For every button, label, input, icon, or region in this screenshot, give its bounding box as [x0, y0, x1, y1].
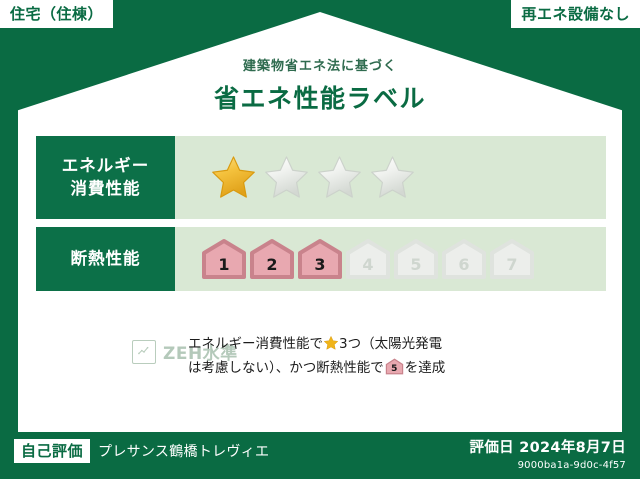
insulation-level-value: 2	[249, 257, 295, 273]
inline-star-icon	[323, 335, 339, 351]
inline-house-value: 5	[385, 365, 404, 374]
footer-right-group: 評価日 2024年8月7日 9000ba1a-9d0c-4f57	[470, 436, 626, 471]
insulation-level-7: 7	[489, 238, 535, 280]
self-evaluation-badge: 自己評価	[14, 439, 90, 463]
description-line-1: エネルギー消費性能で3つ（太陽光発電	[188, 333, 606, 357]
insulation-level-value: 6	[441, 257, 487, 273]
energy-performance-value	[175, 136, 606, 219]
insulation-level-2: 2	[249, 238, 295, 280]
insulation-level-1: 1	[201, 238, 247, 280]
achievement-description: エネルギー消費性能で3つ（太陽光発電 は考慮しない）、かつ断熱性能で5を達成	[166, 333, 606, 380]
description-line1-suffix: 3つ（太陽光発電	[339, 336, 442, 352]
evaluation-date: 評価日 2024年8月7日	[470, 436, 626, 457]
zeh-description-section: ZEH水準 エネルギー消費性能で3つ（太陽光発電 は考慮しない）、かつ断熱性能で…	[36, 333, 606, 380]
insulation-performance-row: 断熱性能 1234567	[36, 227, 606, 291]
energy-performance-row: エネルギー 消費性能	[36, 136, 606, 219]
star-empty-icon	[368, 154, 417, 201]
energy-label-line2: 消費性能	[71, 178, 141, 200]
label-title-block: 建築物省エネ法に基づく 省エネ性能ラベル	[0, 55, 640, 115]
insulation-level-4: 4	[345, 238, 391, 280]
inline-house-badge: 5	[385, 358, 404, 375]
footer-bar: 自己評価 プレサンス鶴橋トレヴィエ 評価日 2024年8月7日 9000ba1a…	[0, 432, 640, 479]
description-line2-suffix: を達成	[405, 360, 446, 376]
building-name: プレサンス鶴橋トレヴィエ	[98, 441, 269, 461]
insulation-performance-label: 断熱性能	[36, 227, 175, 291]
energy-label-line1: エネルギー	[62, 155, 150, 177]
star-rating	[209, 154, 417, 201]
zeh-standard-badge: ZEH水準	[36, 339, 166, 364]
star-empty-icon	[262, 154, 311, 201]
title-subtitle: 建築物省エネ法に基づく	[0, 55, 640, 74]
insulation-level-value: 4	[345, 257, 391, 273]
energy-label-page: { "tags": { "left": "住宅（住棟）", "right": "…	[0, 0, 640, 479]
insulation-level-value: 3	[297, 257, 343, 273]
insulation-level-3: 3	[297, 238, 343, 280]
insulation-level-5: 5	[393, 238, 439, 280]
building-type-tag: 住宅（住棟）	[0, 0, 113, 28]
insulation-level-scale: 1234567	[201, 238, 535, 280]
footer-left-group: 自己評価 プレサンス鶴橋トレヴィエ	[14, 439, 269, 463]
renewable-energy-tag: 再エネ設備なし	[511, 0, 640, 28]
insulation-performance-value: 1234567	[175, 227, 606, 291]
description-line-2: は考慮しない）、かつ断熱性能で5を達成	[188, 357, 606, 381]
insulation-level-value: 5	[393, 257, 439, 273]
insulation-label-line1: 断熱性能	[71, 248, 141, 270]
star-empty-icon	[315, 154, 364, 201]
description-line2-prefix: は考慮しない）、かつ断熱性能で	[188, 360, 384, 376]
zeh-check-icon	[132, 340, 156, 364]
insulation-level-value: 7	[489, 257, 535, 273]
page-title: 省エネ性能ラベル	[0, 79, 640, 115]
energy-performance-label: エネルギー 消費性能	[36, 136, 175, 219]
description-line1-prefix: エネルギー消費性能で	[188, 336, 323, 352]
star-filled-icon	[209, 154, 258, 201]
insulation-level-value: 1	[201, 257, 247, 273]
insulation-level-6: 6	[441, 238, 487, 280]
evaluation-id: 9000ba1a-9d0c-4f57	[470, 460, 626, 471]
metrics-section: エネルギー 消費性能 断熱性能 1234567	[36, 136, 606, 299]
